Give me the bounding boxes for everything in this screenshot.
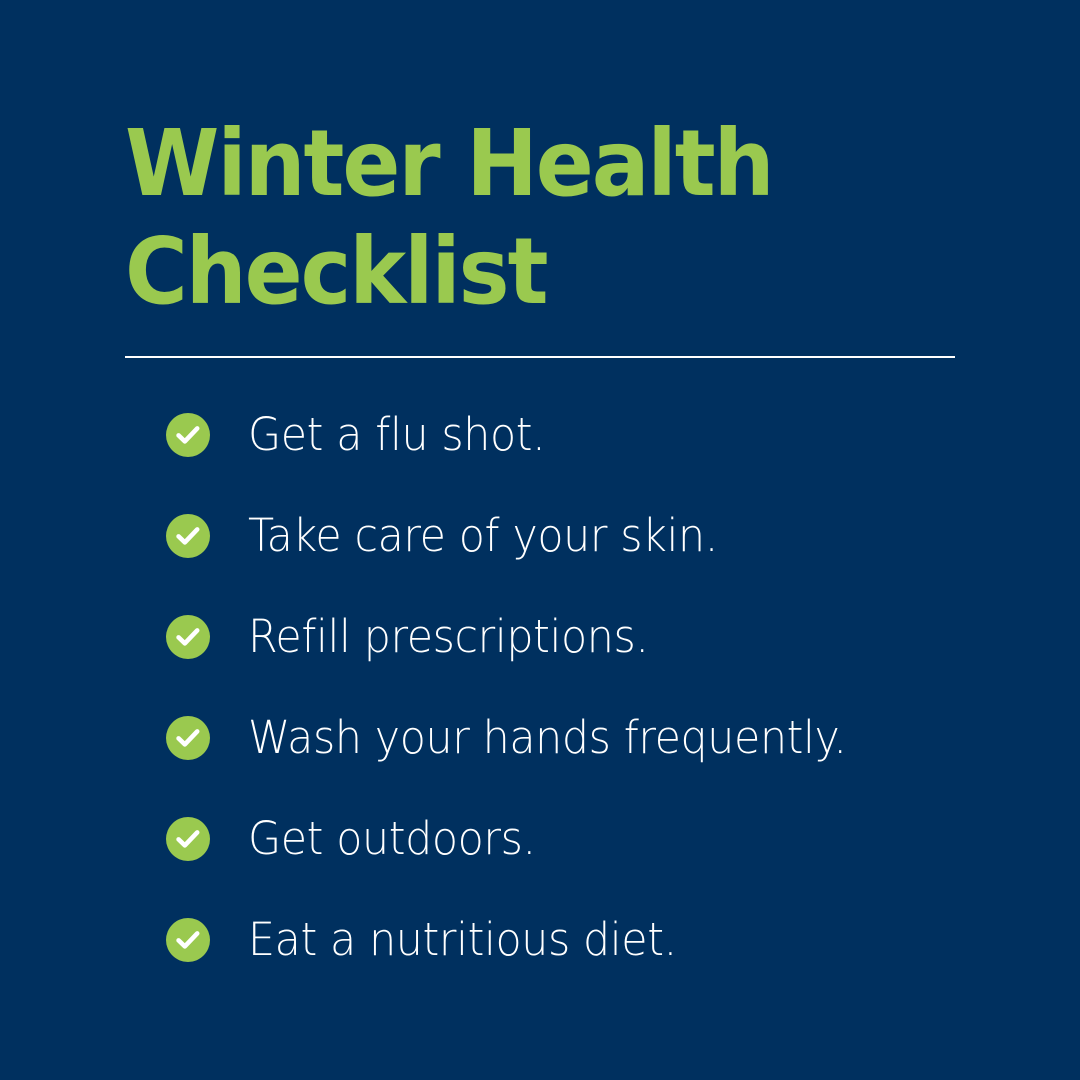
page-title: Winter Health Checklist (125, 110, 965, 326)
check-circle-icon (166, 615, 210, 659)
check-circle-icon (166, 817, 210, 861)
list-item[interactable]: Get outdoors. (166, 817, 1046, 861)
page-title-line-1: Winter Health (125, 110, 906, 218)
check-circle-icon (166, 413, 210, 457)
list-item-label: Refill prescriptions. (248, 614, 649, 660)
title-divider (125, 356, 955, 358)
list-item-label: Get a flu shot. (248, 412, 545, 458)
checklist: Get a flu shot. Take care of your skin. … (166, 413, 1046, 962)
list-item-label: Take care of your skin. (248, 513, 718, 559)
page-title-line-2: Checklist (125, 218, 906, 326)
list-item-label: Eat a nutritious diet. (248, 917, 677, 963)
list-item[interactable]: Take care of your skin. (166, 514, 1046, 558)
check-circle-icon (166, 514, 210, 558)
check-circle-icon (166, 918, 210, 962)
list-item[interactable]: Get a flu shot. (166, 413, 1046, 457)
list-item-label: Wash your hands frequently. (248, 715, 847, 761)
list-item[interactable]: Refill prescriptions. (166, 615, 1046, 659)
list-item[interactable]: Wash your hands frequently. (166, 716, 1046, 760)
list-item[interactable]: Eat a nutritious diet. (166, 918, 1046, 962)
list-item-label: Get outdoors. (248, 816, 536, 862)
check-circle-icon (166, 716, 210, 760)
winter-health-checklist-poster: Winter Health Checklist Get a flu shot. … (0, 0, 1080, 1080)
